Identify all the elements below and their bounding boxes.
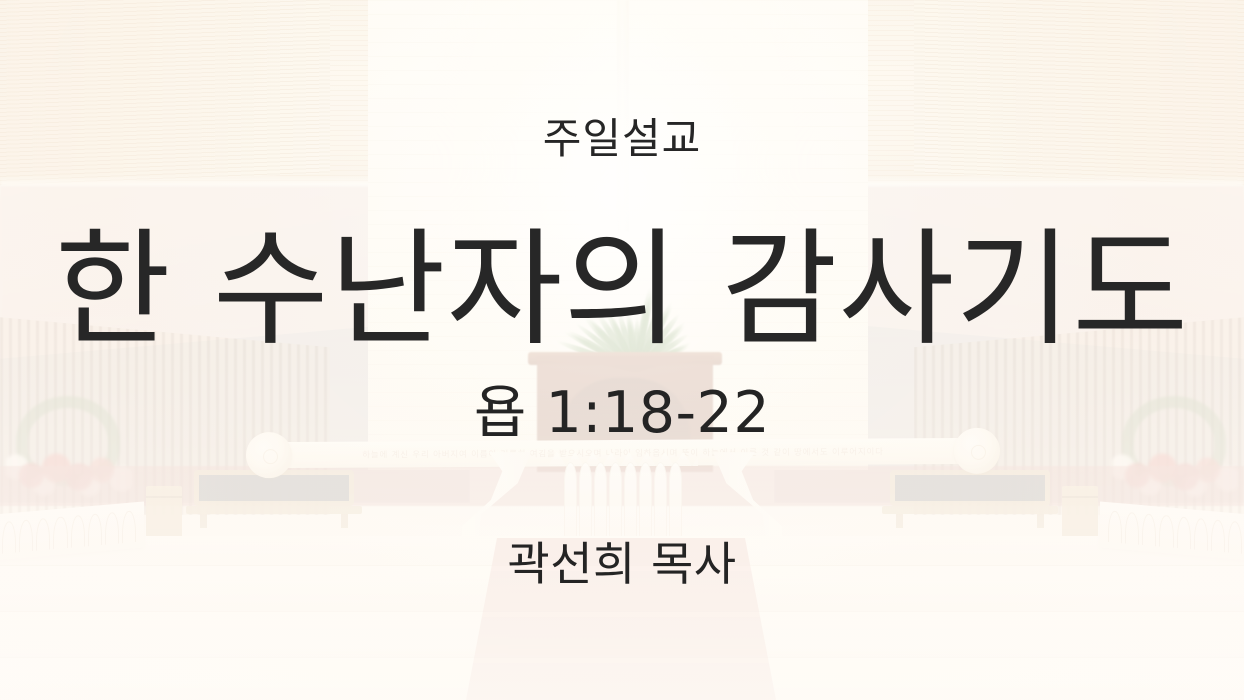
sermon-title-slide: 하늘에 계신 우리 아버지여 이름이 거룩히 여김을 받으시오며 나라이 임하옵… xyxy=(0,0,1244,700)
slide-text-layer: 주일설교 한 수난자의 감사기도 욥 1:18-22 곽선희 목사 xyxy=(0,0,1244,700)
sermon-title: 한 수난자의 감사기도 xyxy=(0,224,1244,356)
preacher-name: 곽선희 목사 xyxy=(0,541,1244,587)
scripture-reference: 욥 1:18-22 xyxy=(0,385,1244,442)
sermon-category-label: 주일설교 xyxy=(0,118,1244,160)
